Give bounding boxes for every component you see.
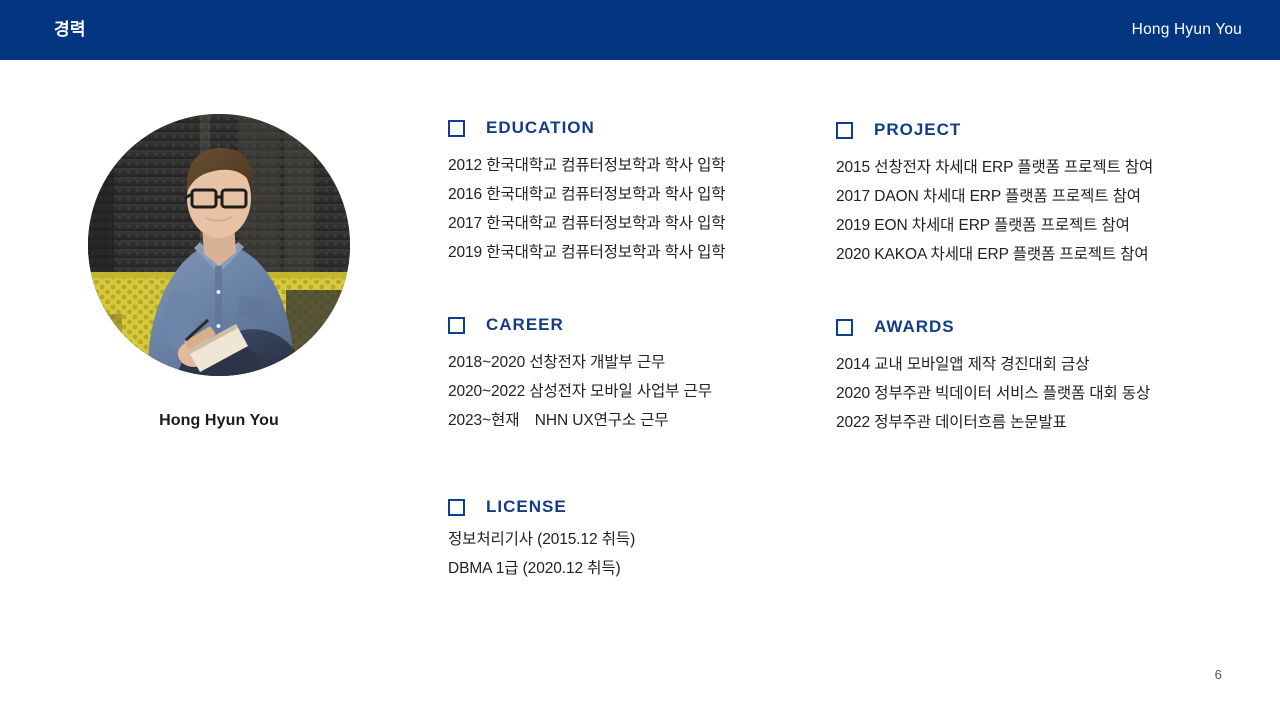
- profile-name: Hong Hyun You: [88, 412, 350, 430]
- section-license: LICENSE 정보처리기사 (2015.12 취득) DBMA 1급 (202…: [448, 497, 635, 583]
- list-item: 2019 한국대학교 컴퓨터정보학과 학사 입학: [448, 238, 725, 267]
- section-career: CAREER 2018~2020 선창전자 개발부 근무 2020~2022 삼…: [448, 315, 712, 435]
- list-item: 2020 정부주관 빅데이터 서비스 플랫폼 대회 동상: [836, 379, 1150, 408]
- list-item: 2015 선창전자 차세대 ERP 플랫폼 프로젝트 참여: [836, 153, 1153, 182]
- section-career-list: 2018~2020 선창전자 개발부 근무 2020~2022 삼성전자 모바일…: [448, 348, 712, 435]
- slide-header-bar: 경력 Hong Hyun You: [0, 0, 1280, 60]
- list-item: 2022 정부주관 데이터흐름 논문발표: [836, 408, 1150, 437]
- list-item: 2017 한국대학교 컴퓨터정보학과 학사 입학: [448, 209, 725, 238]
- section-awards: AWARDS 2014 교내 모바일앱 제작 경진대회 금상 2020 정부주관…: [836, 317, 1150, 437]
- square-outline-icon: [448, 317, 465, 334]
- list-item: 2014 교내 모바일앱 제작 경진대회 금상: [836, 350, 1150, 379]
- section-project-title: PROJECT: [874, 120, 961, 140]
- list-item: 2016 한국대학교 컴퓨터정보학과 학사 입학: [448, 180, 725, 209]
- section-education-title: EDUCATION: [486, 118, 595, 138]
- section-education-list: 2012 한국대학교 컴퓨터정보학과 학사 입학 2016 한국대학교 컴퓨터정…: [448, 151, 725, 267]
- section-project-list: 2015 선창전자 차세대 ERP 플랫폼 프로젝트 참여 2017 DAON …: [836, 153, 1153, 269]
- section-awards-header: AWARDS: [836, 317, 1150, 337]
- portrait-photo-icon: [88, 114, 350, 376]
- section-license-title: LICENSE: [486, 497, 567, 517]
- square-outline-icon: [836, 319, 853, 336]
- list-item: DBMA 1급 (2020.12 취득): [448, 554, 635, 583]
- list-item: 2020 KAKOA 차세대 ERP 플랫폼 프로젝트 참여: [836, 240, 1153, 269]
- section-license-list: 정보처리기사 (2015.12 취득) DBMA 1급 (2020.12 취득): [448, 525, 635, 583]
- list-item: 2020~2022 삼성전자 모바일 사업부 근무: [448, 377, 712, 406]
- author-name: Hong Hyun You: [1132, 0, 1242, 60]
- list-item: 정보처리기사 (2015.12 취득): [448, 525, 635, 554]
- section-awards-title: AWARDS: [874, 317, 955, 337]
- list-item: 2012 한국대학교 컴퓨터정보학과 학사 입학: [448, 151, 725, 180]
- profile-block: Hong Hyun You: [88, 114, 350, 430]
- section-license-header: LICENSE: [448, 497, 635, 517]
- page-title: 경력: [54, 0, 86, 60]
- section-education-header: EDUCATION: [448, 118, 725, 138]
- page-number: 6: [1215, 667, 1222, 682]
- section-education: EDUCATION 2012 한국대학교 컴퓨터정보학과 학사 입학 2016 …: [448, 118, 725, 267]
- section-project-header: PROJECT: [836, 120, 1153, 140]
- list-item: 2019 EON 차세대 ERP 플랫폼 프로젝트 참여: [836, 211, 1153, 240]
- square-outline-icon: [448, 120, 465, 137]
- list-item: 2017 DAON 차세대 ERP 플랫폼 프로젝트 참여: [836, 182, 1153, 211]
- square-outline-icon: [836, 122, 853, 139]
- list-item: 2023~현재 NHN UX연구소 근무: [448, 406, 712, 435]
- square-outline-icon: [448, 499, 465, 516]
- section-career-header: CAREER: [448, 315, 712, 335]
- section-awards-list: 2014 교내 모바일앱 제작 경진대회 금상 2020 정부주관 빅데이터 서…: [836, 350, 1150, 437]
- list-item: 2018~2020 선창전자 개발부 근무: [448, 348, 712, 377]
- avatar: [88, 114, 350, 376]
- section-career-title: CAREER: [486, 315, 564, 335]
- section-project: PROJECT 2015 선창전자 차세대 ERP 플랫폼 프로젝트 참여 20…: [836, 120, 1153, 269]
